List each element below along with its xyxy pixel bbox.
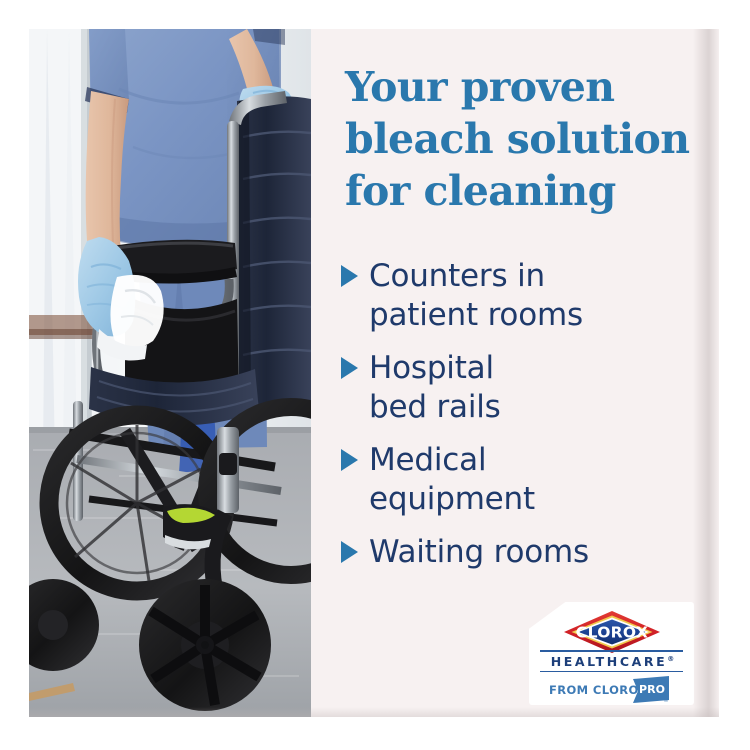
product-banner: Your proven bleach solution for cleaning… [0, 0, 750, 750]
rule-bottom [540, 671, 683, 673]
headline-line-1: Your proven [345, 61, 705, 113]
triangle-right-icon [341, 449, 358, 471]
list-item-label: Hospital bed rails [369, 349, 501, 427]
list-item-label: Counters in patient rooms [369, 257, 583, 335]
triangle-right-icon [341, 265, 358, 287]
healthcare-lockup: HEALTHCARE® [540, 650, 683, 672]
triangle-right-icon [341, 357, 358, 379]
clorox-diamond-icon: CLOROX [559, 610, 665, 654]
banner-card: Your proven bleach solution for cleaning… [29, 29, 719, 717]
list-item: Waiting rooms [341, 533, 711, 572]
brand-logo: CLOROX HEALTHCARE® FROM CLOROX PRO ® [529, 602, 694, 705]
list-item: Counters in patient rooms [341, 257, 711, 335]
cloroxpro-lockup: FROM CLOROX PRO ® [549, 678, 679, 702]
triangle-right-icon [341, 541, 358, 563]
healthcare-wordmark: HEALTHCARE® [540, 652, 683, 671]
headline-line-2: bleach solution [345, 113, 705, 165]
list-item: Hospital bed rails [341, 349, 711, 427]
list-item: Medical equipment [341, 441, 711, 519]
pro-registered-mark: ® [663, 697, 669, 704]
list-item-label: Medical equipment [369, 441, 535, 519]
registered-mark: ® [667, 654, 674, 662]
text-panel: Your proven bleach solution for cleaning… [311, 29, 719, 717]
benefit-list: Counters in patient rooms Hospital bed r… [341, 257, 711, 572]
hero-photo [29, 29, 311, 717]
list-item-label: Waiting rooms [369, 533, 589, 572]
headline: Your proven bleach solution for cleaning [345, 61, 705, 217]
clorox-wordmark: CLOROX [576, 624, 648, 642]
headline-line-3: for cleaning [345, 165, 705, 217]
pro-wordmark: PRO [639, 683, 665, 696]
cloroxpro-badge-icon: PRO ® [631, 676, 673, 704]
hero-photo-illustration [29, 29, 311, 717]
